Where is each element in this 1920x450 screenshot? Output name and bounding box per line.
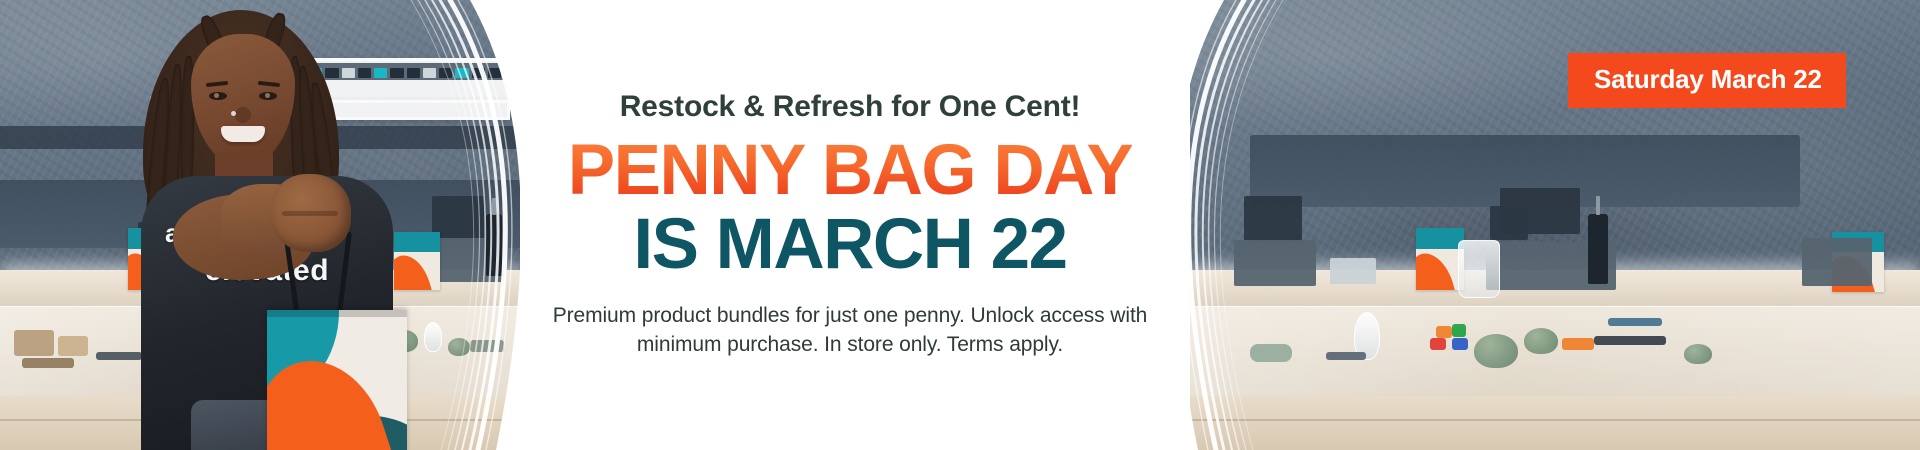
- nose: [235, 107, 251, 123]
- headline-line-1: PENNY BAG DAY: [568, 136, 1132, 206]
- case-product: [1326, 352, 1366, 360]
- case-product: [1436, 326, 1452, 338]
- case-product: [1562, 338, 1594, 350]
- pos-base-left: [1234, 240, 1316, 286]
- date-badge: Saturday March 22: [1568, 53, 1846, 108]
- case-product: [22, 358, 74, 368]
- eye-right: [259, 92, 277, 100]
- succulent-decor: [1684, 344, 1712, 364]
- eyebrow-right: [258, 80, 280, 86]
- case-product: [1452, 324, 1466, 337]
- glass-jar: [1458, 240, 1500, 298]
- left-photo: art elevated: [0, 0, 520, 450]
- counter-base: [1190, 396, 1920, 450]
- case-product: [470, 340, 504, 352]
- pos-base-right: [1802, 238, 1872, 286]
- spray-bottle: [1588, 214, 1608, 284]
- case-product: [1594, 336, 1666, 345]
- shopping-bag: [267, 310, 407, 450]
- case-product: [1250, 344, 1292, 362]
- case-product: [1608, 318, 1662, 326]
- succulent-decor: [1524, 328, 1558, 354]
- eyebrow-text: Restock & Refresh for One Cent!: [620, 90, 1081, 124]
- case-product: [1452, 338, 1468, 350]
- sub-copy-text: Premium product bundles for just one pen…: [545, 302, 1155, 360]
- promo-banner: art elevated: [0, 0, 1920, 450]
- smile: [221, 126, 265, 142]
- tool-cup: [1490, 206, 1528, 240]
- glass-case-front: [1190, 306, 1920, 396]
- branded-bag-prop: [1416, 228, 1464, 290]
- nose-stud: [231, 111, 236, 116]
- hand-fist: [271, 174, 351, 252]
- date-badge-label: Saturday March 22: [1594, 64, 1822, 95]
- banner-copy-block: Restock & Refresh for One Cent! PENNY BA…: [500, 0, 1200, 450]
- card-reader: [1330, 258, 1376, 284]
- headline-line-2: IS MARCH 22: [633, 209, 1066, 280]
- eyebrow-left: [205, 80, 227, 86]
- pos-terminal-left: [1244, 196, 1302, 242]
- bag-rim: [267, 310, 407, 317]
- case-product: [58, 336, 88, 356]
- case-product: [14, 330, 54, 356]
- succulent-decor: [448, 338, 470, 356]
- succulent-decor: [1474, 334, 1518, 368]
- glass-product: [424, 322, 442, 352]
- eye-left: [209, 92, 227, 100]
- case-product: [1430, 338, 1446, 350]
- person-holding-bag: art elevated: [95, 8, 425, 450]
